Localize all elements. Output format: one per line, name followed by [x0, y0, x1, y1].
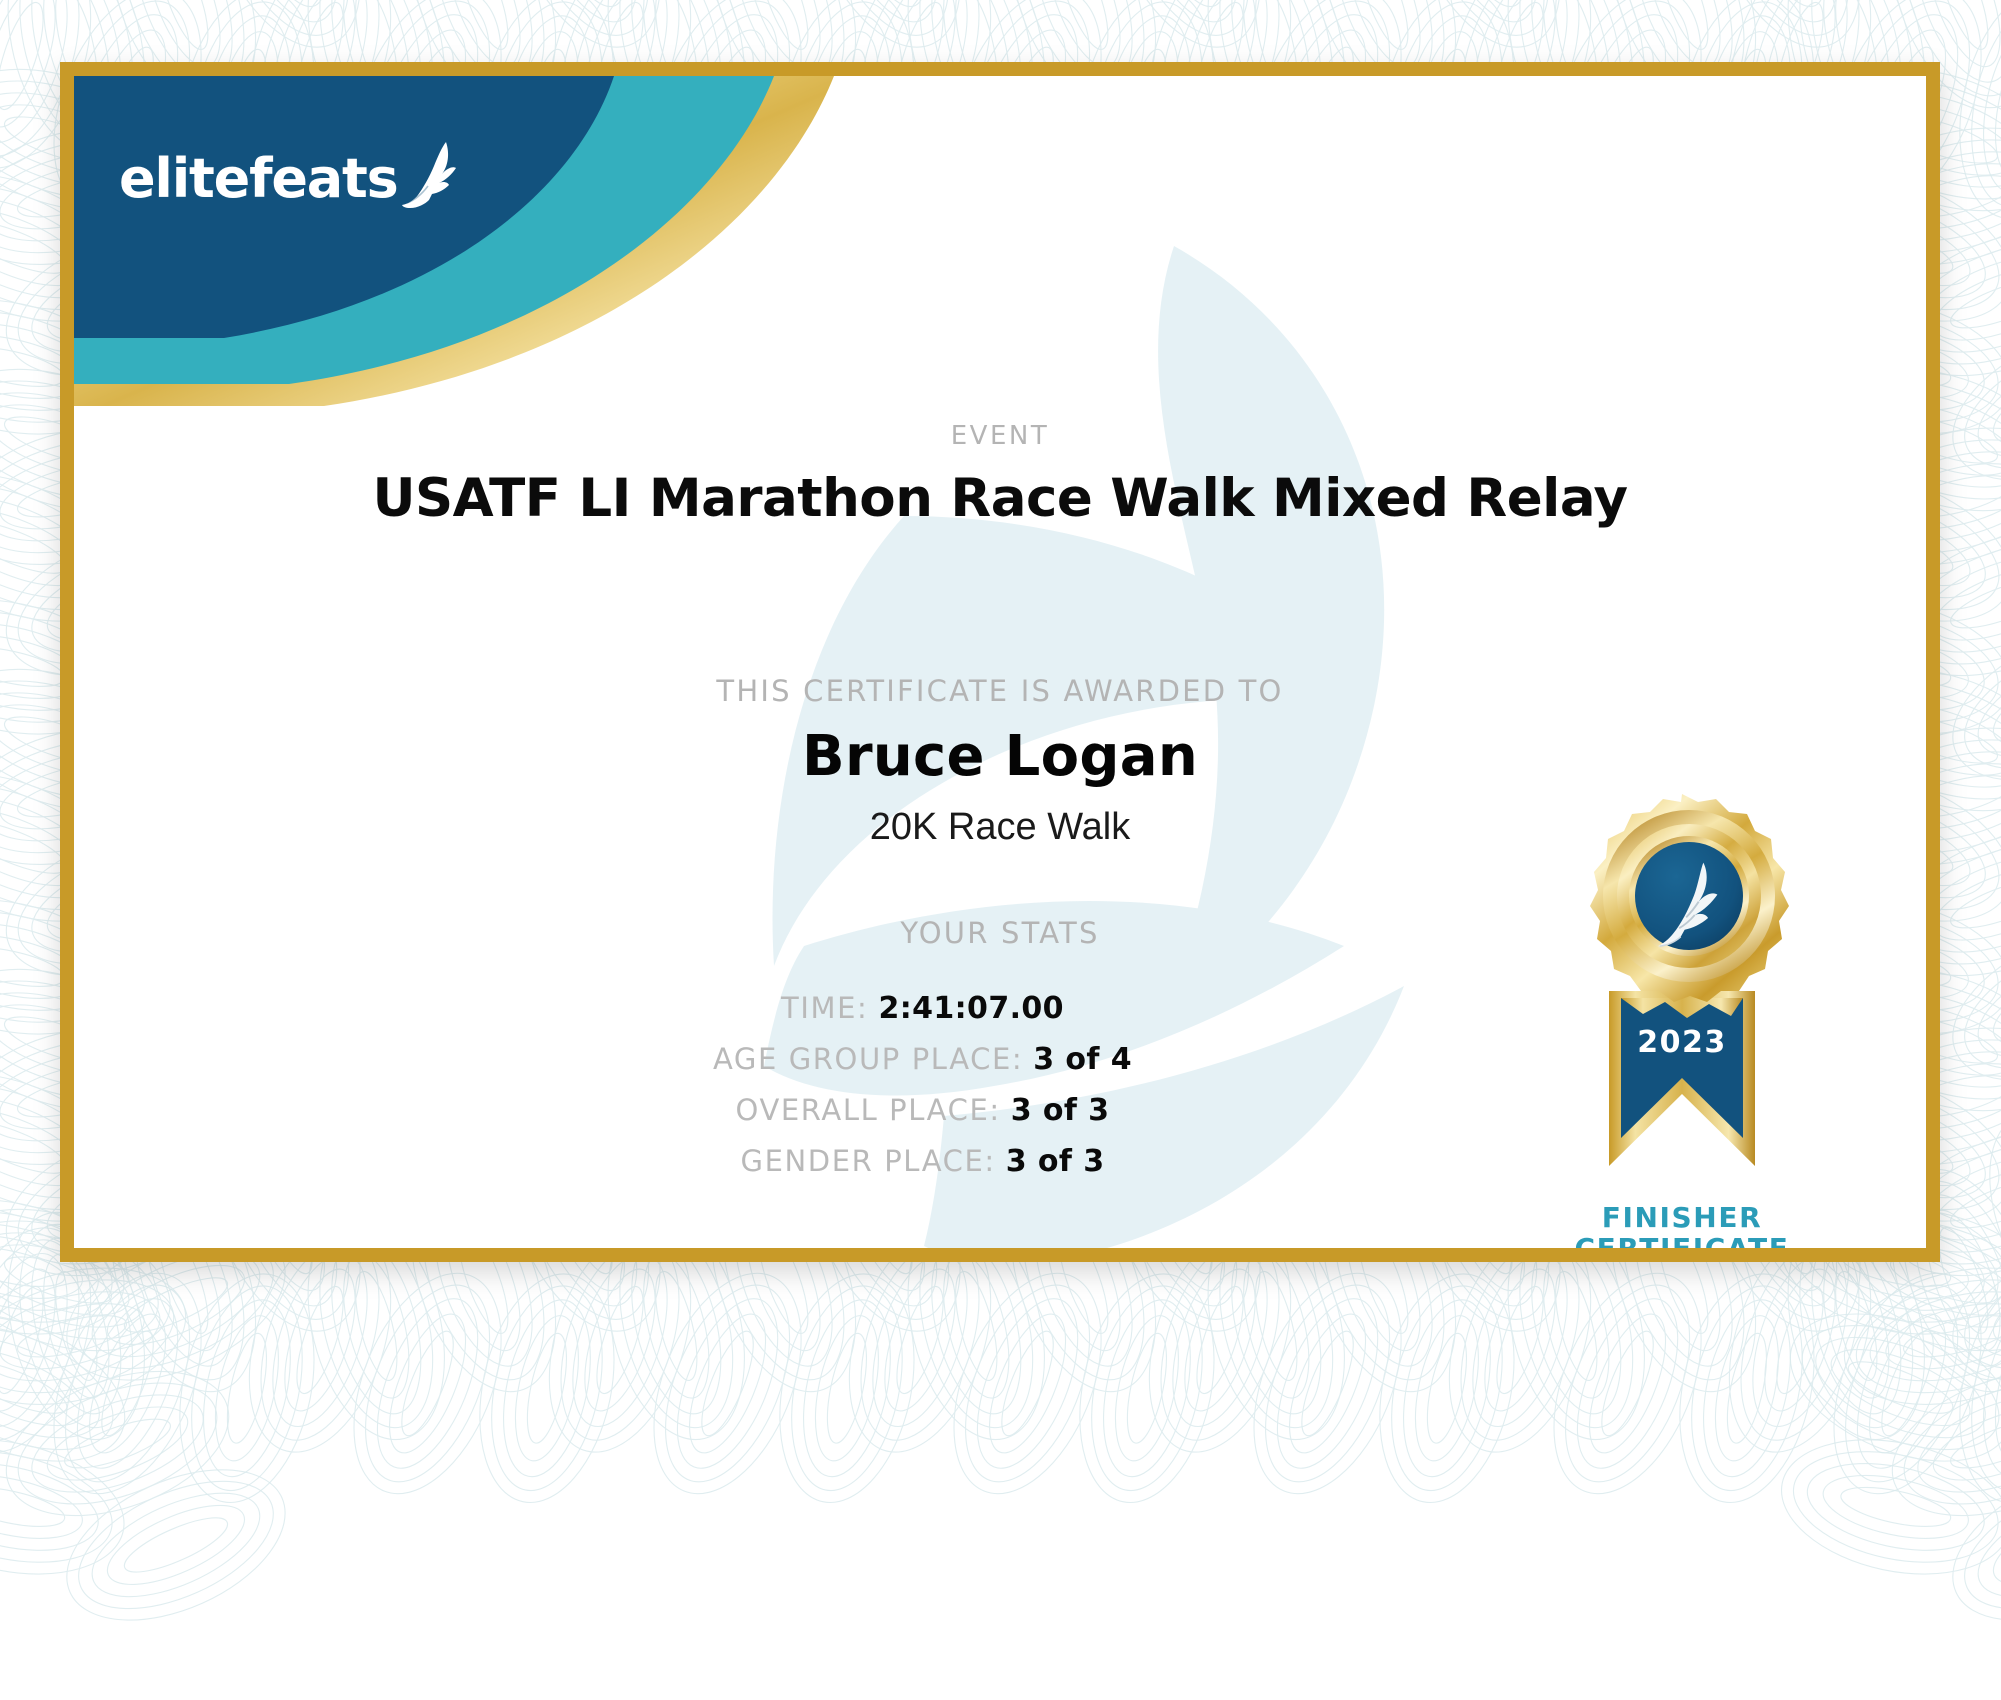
winged-foot-icon [398, 138, 460, 212]
seal-medal [1590, 794, 1789, 1002]
seal-year: 2023 [1637, 1025, 1727, 1060]
awarded-to-label: THIS CERTIFICATE IS AWARDED TO [74, 674, 1926, 708]
stat-value-age-group-place: 3 of 4 [1033, 1042, 1132, 1077]
stat-label-overall-place: OVERALL PLACE: [736, 1093, 1001, 1127]
event-label: EVENT [74, 421, 1926, 451]
seal-caption-line-1: FINISHER [1522, 1202, 1842, 1233]
stat-label-gender-place: GENDER PLACE: [741, 1144, 996, 1178]
event-title: USATF LI Marathon Race Walk Mixed Relay [74, 468, 1926, 529]
medal-seal-graphic: 2023 [1537, 776, 1827, 1206]
seal-caption-line-2: CERTIFICATE [1522, 1233, 1842, 1248]
brand-logo-text: elitefeats [119, 152, 398, 206]
stat-value-gender-place: 3 of 3 [1006, 1144, 1105, 1179]
certificate-content: EVENT USATF LI Marathon Race Walk Mixed … [74, 76, 1926, 1248]
seal-caption: FINISHER CERTIFICATE [1522, 1202, 1842, 1248]
brand-logo: elitefeats [119, 138, 460, 206]
certificate-page: elitefeats EVENT USATF LI Marathon R [0, 0, 2001, 1700]
stat-label-age-group-place: AGE GROUP PLACE: [713, 1042, 1023, 1076]
stat-value-overall-place: 3 of 3 [1011, 1093, 1110, 1128]
seal-ribbon [1609, 991, 1755, 1166]
certificate-inner: elitefeats EVENT USATF LI Marathon R [74, 76, 1926, 1248]
certificate-card: elitefeats EVENT USATF LI Marathon R [60, 62, 1940, 1262]
stat-value-time: 2:41:07.00 [878, 991, 1064, 1026]
stat-label-time: TIME: [781, 991, 868, 1025]
finisher-seal: 2023 [1522, 776, 1842, 1248]
